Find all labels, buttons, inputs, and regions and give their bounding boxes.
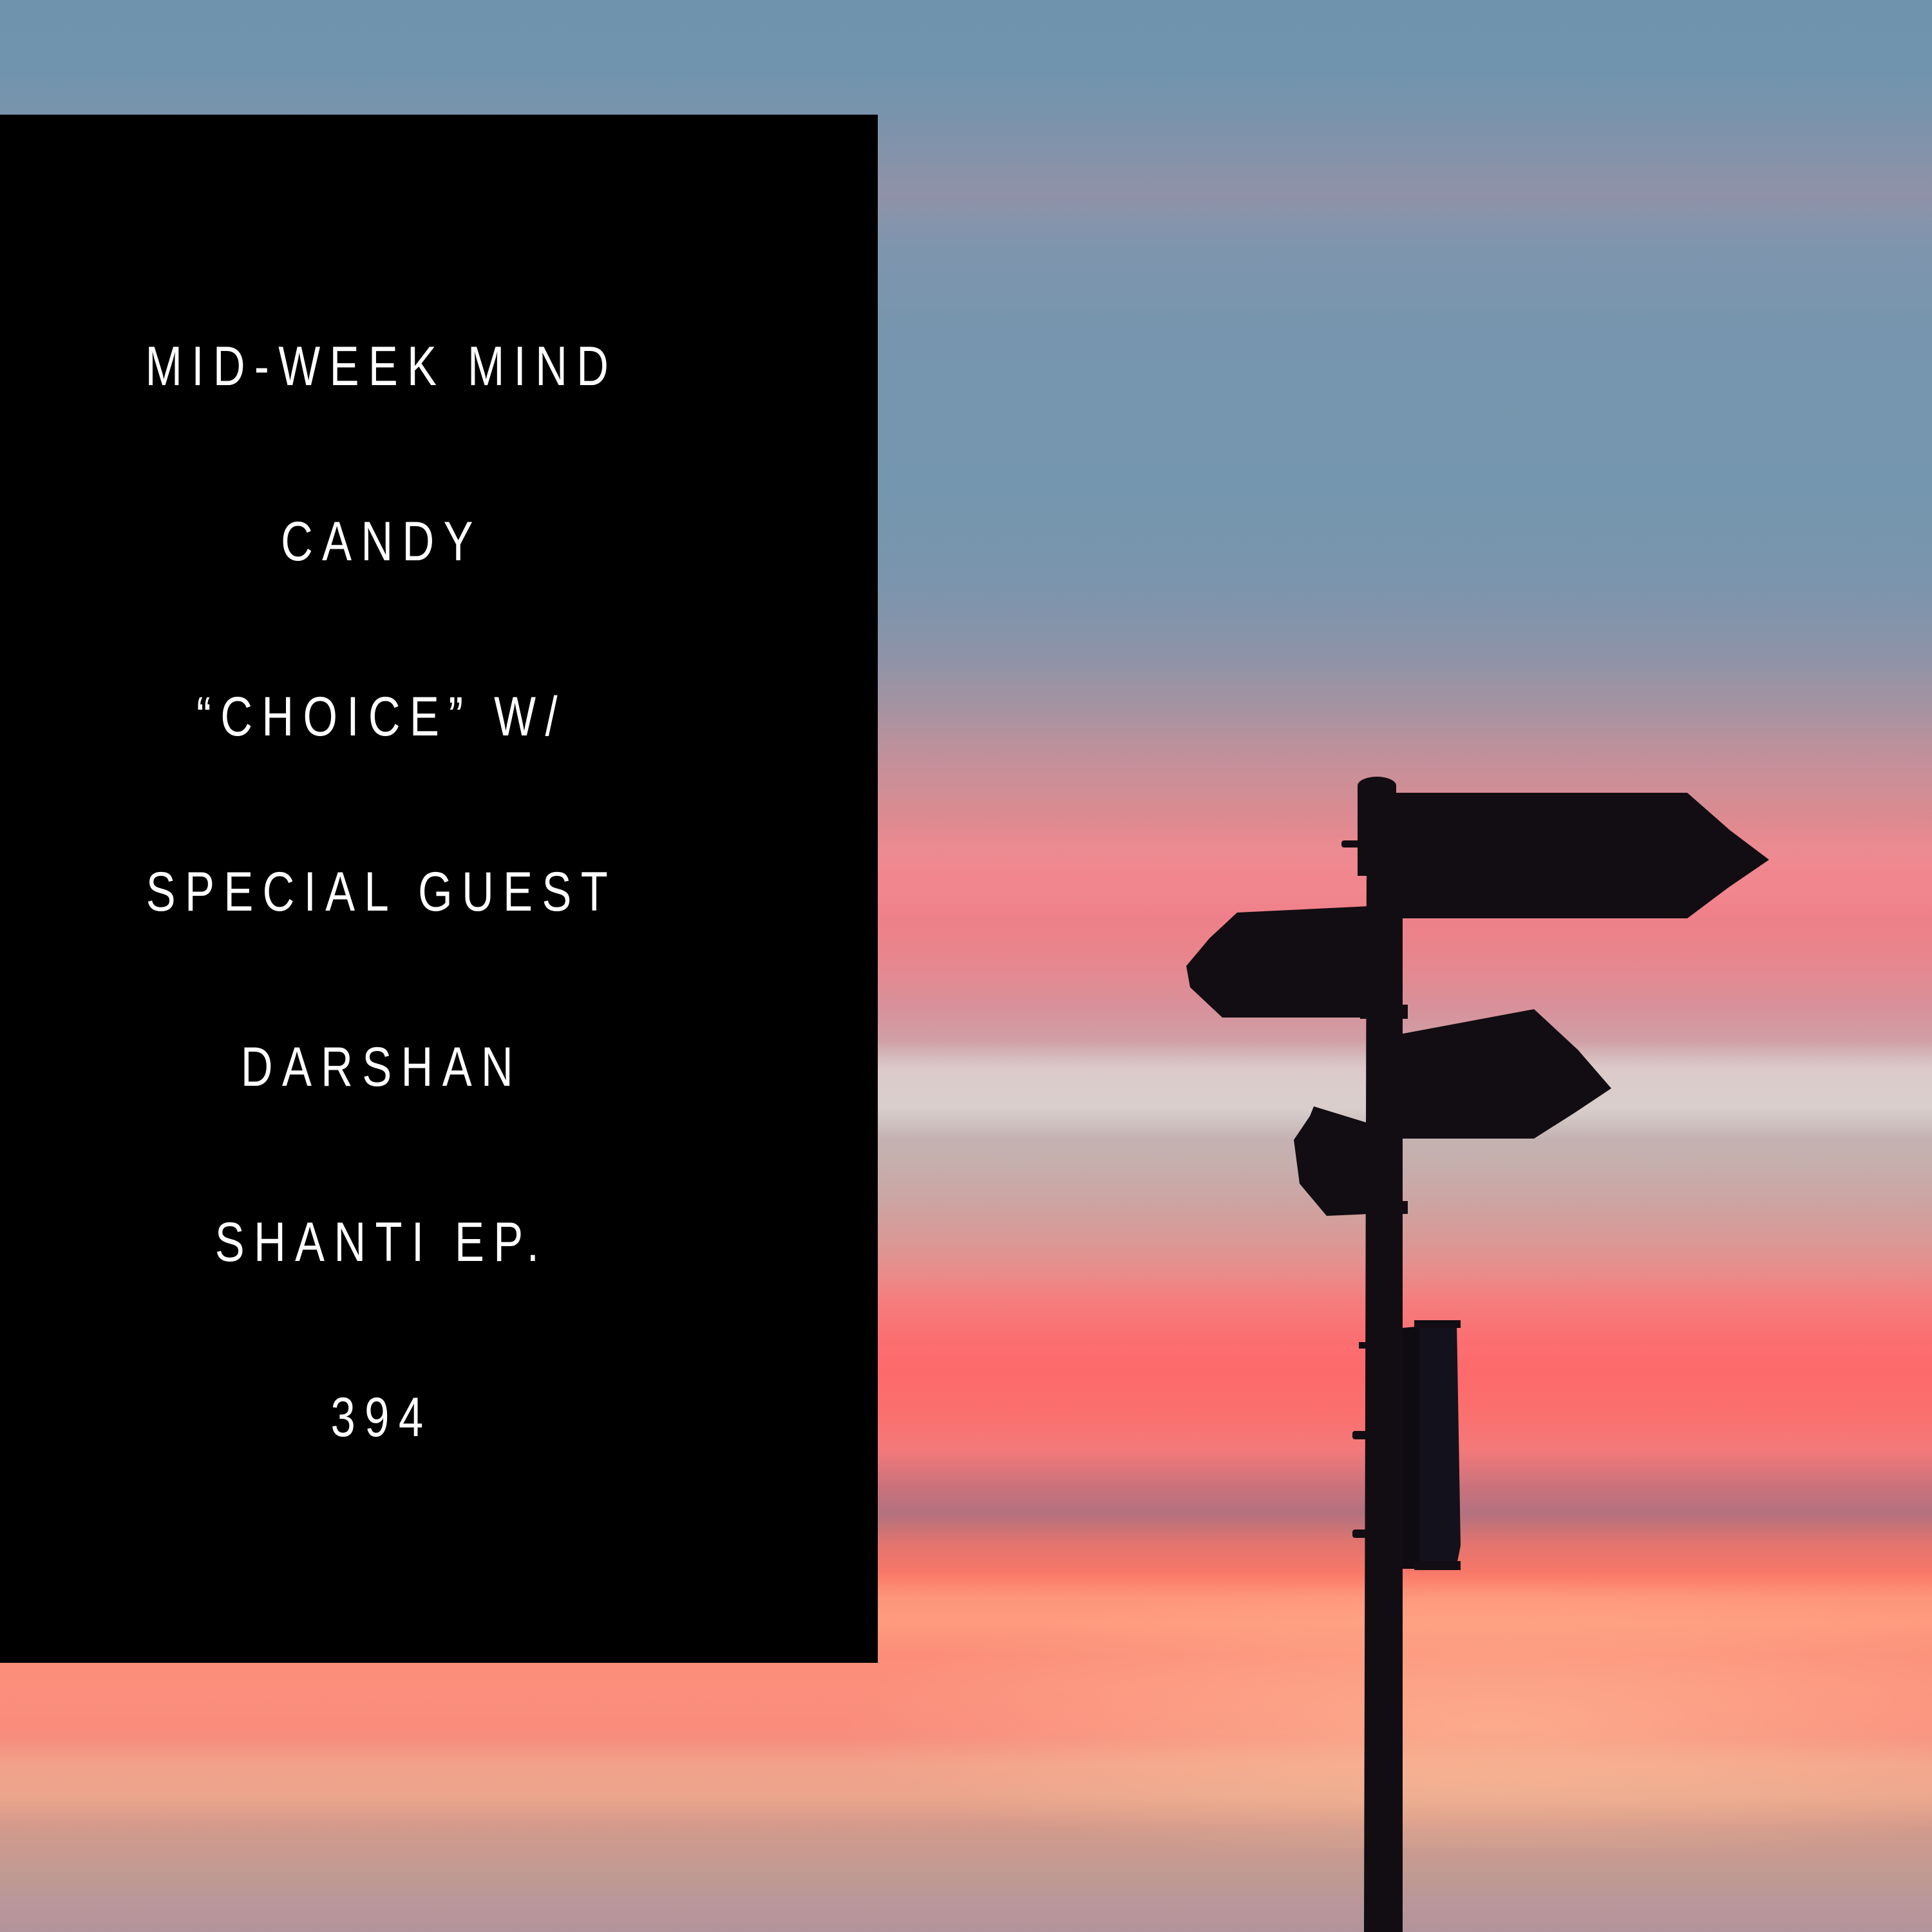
title-line-5: DARSHAN <box>77 980 687 1155</box>
title-line-3: “CHOICE” W/ <box>77 629 687 804</box>
title-line-2: CANDY <box>77 454 687 629</box>
title-line-7: 394 <box>77 1330 687 1505</box>
title-card-panel: MID-WEEK MIND CANDY “CHOICE” W/ SPECIAL … <box>0 115 878 1663</box>
title-line-6: SHANTI EP. <box>77 1155 687 1330</box>
title-text-block: MID-WEEK MIND CANDY “CHOICE” W/ SPECIAL … <box>0 279 763 1505</box>
album-art-canvas: MID-WEEK MIND CANDY “CHOICE” W/ SPECIAL … <box>0 0 1932 1932</box>
title-line-4: SPECIAL GUEST <box>77 804 687 980</box>
title-line-1: MID-WEEK MIND <box>77 279 687 454</box>
